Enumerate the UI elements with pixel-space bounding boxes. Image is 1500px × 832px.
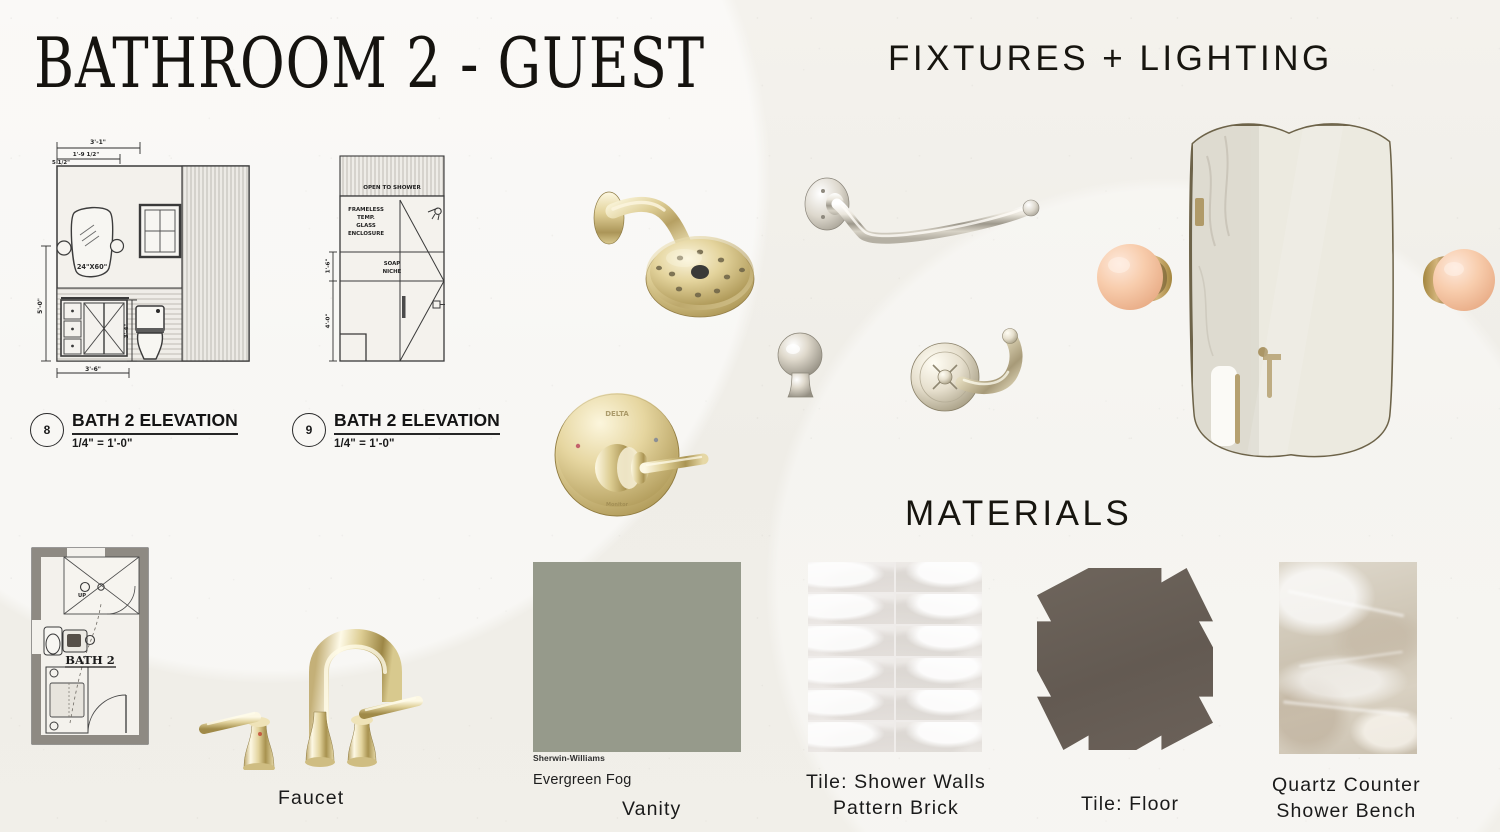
svg-text:3'-1": 3'-1" bbox=[90, 139, 106, 146]
svg-text:UP: UP bbox=[78, 593, 86, 599]
caption-vanity: Vanity bbox=[622, 797, 681, 823]
svg-text:1'-6": 1'-6" bbox=[326, 259, 332, 274]
svg-text:4'-0": 4'-0" bbox=[326, 314, 332, 329]
drawing-title-elevation-9: 9 BATH 2 ELEVATION 1/4" = 1'-0" bbox=[292, 410, 500, 450]
fixture-sconce-right bbox=[1414, 238, 1500, 335]
quartz-vein bbox=[1288, 590, 1404, 617]
svg-text:NICHE: NICHE bbox=[383, 269, 402, 275]
material-shower-wall-tile-swatch bbox=[808, 562, 982, 752]
caption-line-2: Pattern Brick bbox=[806, 796, 986, 822]
tile-brick bbox=[896, 690, 982, 720]
star-tile-shape bbox=[1037, 568, 1213, 750]
quartz-vein bbox=[1283, 700, 1409, 716]
drawing-title-label: BATH 2 ELEVATION bbox=[72, 410, 238, 435]
svg-text:3'-6": 3'-6" bbox=[85, 366, 101, 373]
fixture-shower-head bbox=[580, 178, 770, 338]
drawing-title-label: BATH 2 ELEVATION bbox=[334, 410, 500, 435]
tile-brick bbox=[808, 722, 894, 752]
design-board-canvas: BATHROOM 2 - GUEST FIXTURES + LIGHTING M… bbox=[0, 0, 1500, 832]
caption-line-2: Shower Bench bbox=[1272, 799, 1421, 825]
drawing-bath2-elevation-9: OPEN TO SHOWER FRAMELESS TEMP. GLASS ENC… bbox=[322, 148, 462, 386]
quartz-vein bbox=[1299, 651, 1402, 668]
svg-text:5 1/2": 5 1/2" bbox=[52, 160, 70, 166]
material-floor-tile-swatch bbox=[1037, 568, 1213, 750]
drawing-bath2-elevation-8: 24"X60" bbox=[22, 128, 284, 390]
svg-text:OPEN TO SHOWER: OPEN TO SHOWER bbox=[363, 185, 421, 191]
material-quartz-swatch bbox=[1279, 562, 1417, 754]
tile-brick bbox=[896, 658, 982, 688]
material-faucet-image bbox=[196, 572, 428, 775]
tile-brick bbox=[896, 594, 982, 624]
caption-faucet: Faucet bbox=[278, 786, 344, 812]
fixture-robe-hook bbox=[900, 325, 1050, 440]
svg-text:FRAMELESS: FRAMELESS bbox=[348, 207, 384, 213]
caption-line-1: Tile: Shower Walls bbox=[806, 770, 986, 796]
tile-brick bbox=[808, 594, 894, 624]
tile-column bbox=[808, 562, 894, 752]
svg-text:SOAP: SOAP bbox=[384, 261, 400, 267]
tile-brick bbox=[896, 722, 982, 752]
tile-column bbox=[896, 562, 982, 752]
fixture-shower-valve: DELTA Monitor bbox=[545, 388, 735, 528]
tile-brick bbox=[896, 626, 982, 656]
caption-floor-tile: Tile: Floor bbox=[1081, 792, 1179, 818]
drawing-scale-label: 1/4" = 1'-0" bbox=[334, 438, 500, 450]
caption-line-1: Quartz Counter bbox=[1272, 773, 1421, 799]
caption-quartz: Quartz Counter Shower Bench bbox=[1272, 773, 1421, 824]
tile-brick bbox=[808, 562, 894, 592]
svg-text:Monitor: Monitor bbox=[606, 502, 629, 508]
svg-text:24"X60": 24"X60" bbox=[77, 263, 107, 271]
fixture-sconce-left bbox=[1090, 232, 1190, 329]
drawing-scale-label: 1/4" = 1'-0" bbox=[72, 438, 238, 450]
section-heading-fixtures: FIXTURES + LIGHTING bbox=[888, 39, 1333, 79]
section-heading-materials: MATERIALS bbox=[905, 494, 1132, 534]
tile-brick bbox=[808, 658, 894, 688]
caption-shower-wall-tile: Tile: Shower Walls Pattern Brick bbox=[806, 770, 986, 821]
svg-text:BATH 2: BATH 2 bbox=[65, 653, 114, 667]
tile-brick bbox=[808, 626, 894, 656]
drawing-title-elevation-8: 8 BATH 2 ELEVATION 1/4" = 1'-0" bbox=[30, 410, 238, 450]
fixture-shield-mirror bbox=[1185, 116, 1400, 471]
drawing-bath2-floor-plan: UP BATH 2 bbox=[22, 540, 158, 752]
paint-color-name: Evergreen Fog bbox=[533, 772, 632, 788]
fixture-cabinet-knob bbox=[760, 325, 845, 415]
drawing-bubble-number: 9 bbox=[292, 413, 326, 447]
paint-brand-label: Sherwin-Williams bbox=[533, 753, 605, 763]
svg-text:3'-4": 3'-4" bbox=[124, 324, 130, 339]
fixture-towel-bar bbox=[795, 172, 1050, 272]
svg-text:5'-0": 5'-0" bbox=[37, 298, 44, 314]
svg-text:GLASS: GLASS bbox=[356, 223, 376, 229]
material-paint-swatch bbox=[533, 562, 741, 752]
tile-brick bbox=[896, 562, 982, 592]
page-title: BATHROOM 2 - GUEST bbox=[34, 22, 705, 104]
svg-text:ENCLOSURE: ENCLOSURE bbox=[348, 231, 384, 237]
drawing-bubble-number: 8 bbox=[30, 413, 64, 447]
svg-text:TEMP.: TEMP. bbox=[357, 215, 375, 221]
svg-text:DELTA: DELTA bbox=[605, 410, 629, 418]
svg-text:1'-9 1/2": 1'-9 1/2" bbox=[73, 152, 100, 158]
tile-brick bbox=[808, 690, 894, 720]
